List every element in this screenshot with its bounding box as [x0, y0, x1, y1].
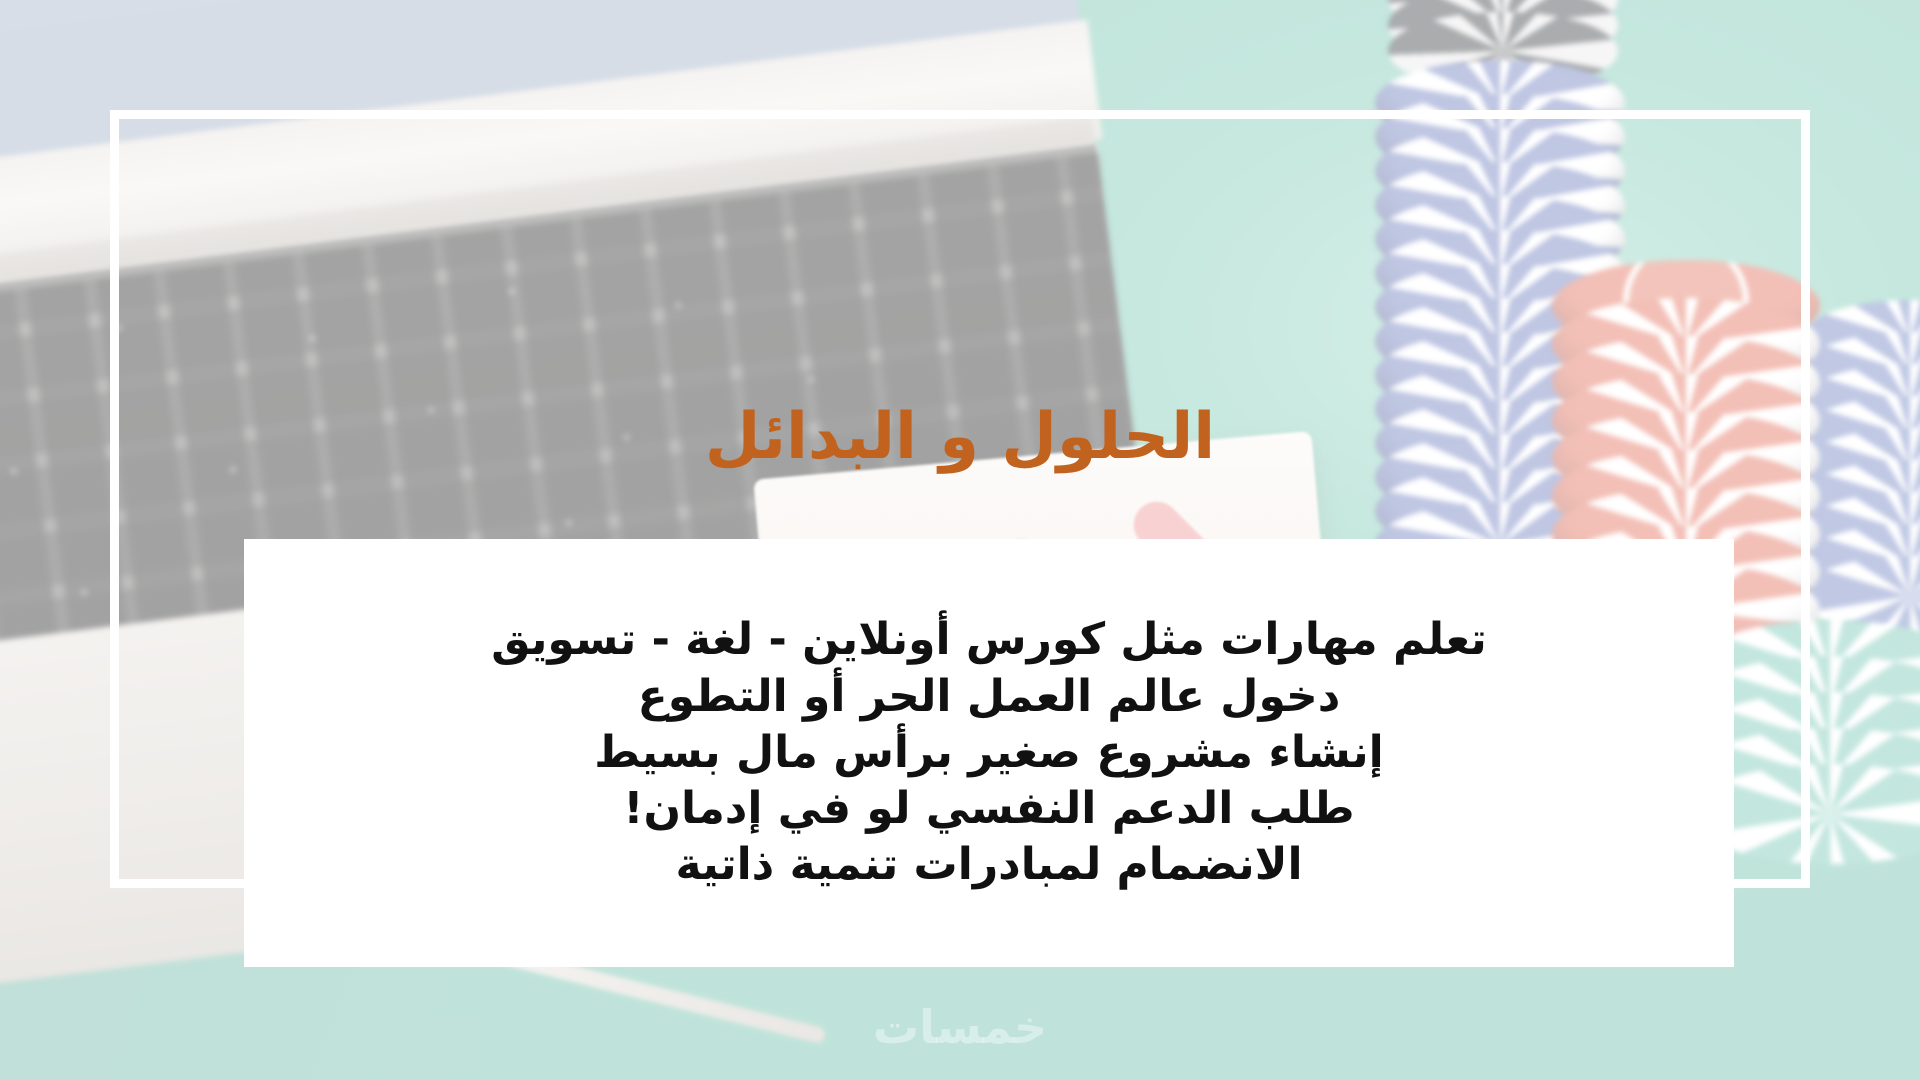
body-line: تعلم مهارات مثل كورس أونلاين - لغة - تسو… — [424, 612, 1554, 668]
body-text-block: تعلم مهارات مثل كورس أونلاين - لغة - تسو… — [424, 612, 1554, 894]
body-line: دخول عالم العمل الحر أو التطوع — [424, 669, 1554, 725]
body-line: الانضمام لمبادرات تنمية ذاتية — [424, 837, 1554, 893]
body-line: إنشاء مشروع صغير برأس مال بسيط — [424, 725, 1554, 781]
page-title: الحلول و البدائل — [0, 402, 1920, 472]
slide-canvas: الحلول و البدائل تعلم مهارات مثل كورس أو… — [0, 0, 1920, 1080]
body-line: طلب الدعم النفسي لو في إدمان! — [424, 781, 1554, 837]
content-card: تعلم مهارات مثل كورس أونلاين - لغة - تسو… — [244, 539, 1734, 967]
